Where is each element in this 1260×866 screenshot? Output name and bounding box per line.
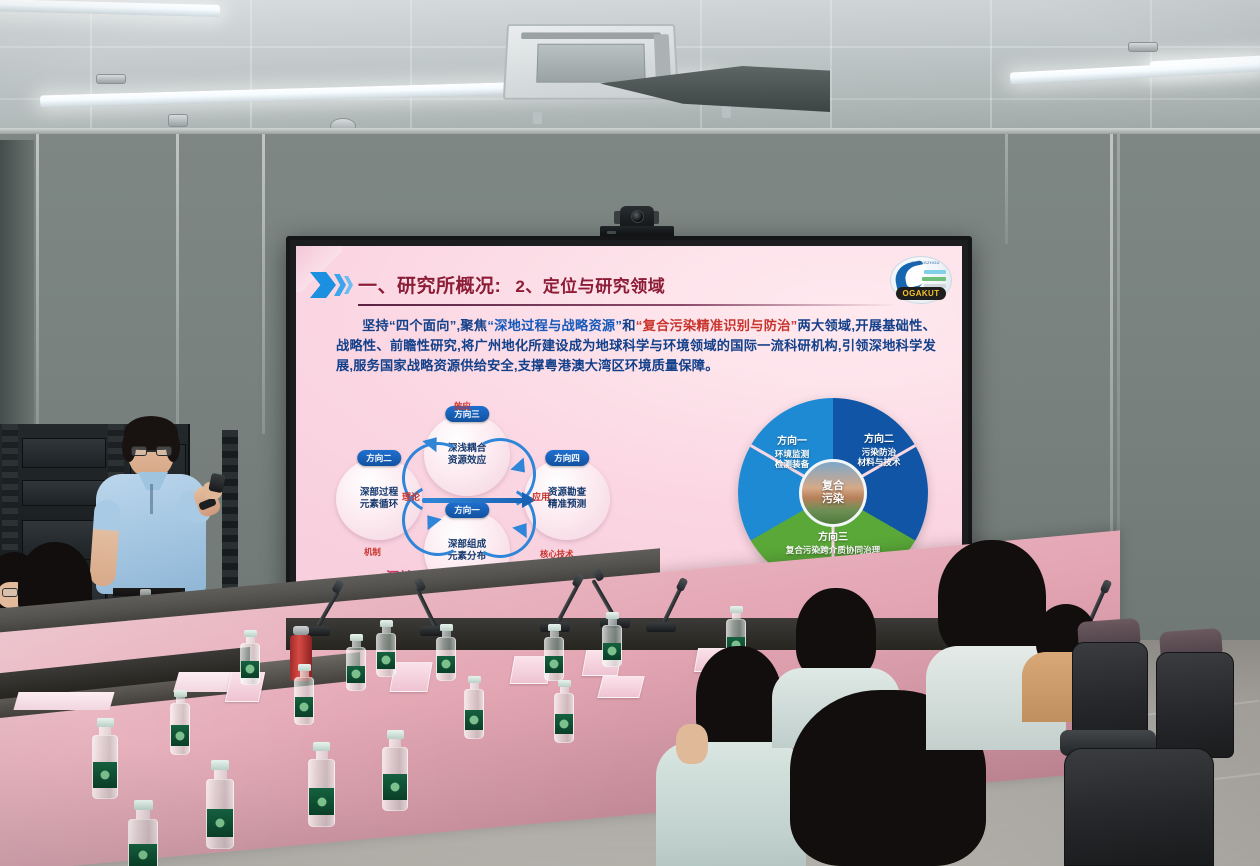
node-line-1: 深部过程 — [360, 487, 398, 499]
node-line-2: 元素循环 — [360, 499, 398, 511]
node-annotation: 机制 — [364, 546, 381, 558]
wall-seam — [1005, 134, 1008, 244]
smoke-detector-icon — [168, 114, 188, 127]
segment-line-1: 污染防治 — [840, 447, 918, 458]
ptz-conference-camera-icon — [600, 206, 674, 238]
segment-pill: 方向二 — [840, 434, 918, 447]
slide-subsection-title: 2、定位与研究领域 — [515, 272, 665, 297]
sprinkler-icon — [722, 106, 731, 118]
institute-logo: GUANGZHOU OGAKUT — [890, 256, 952, 304]
water-bottle — [206, 760, 234, 849]
smoke-detector-icon — [96, 74, 126, 84]
name-card — [13, 692, 114, 710]
ceiling — [0, 0, 1260, 142]
body-part-2: 和 — [622, 318, 636, 333]
node-pill-label: 方向二 — [357, 450, 401, 466]
arrow-label-right: 应用 — [532, 490, 550, 503]
conference-room-photo: 一、研究所概况: 2、定位与研究领域 GUANGZHOU OGAKUT — [0, 0, 1260, 866]
smoke-detector-icon — [1128, 42, 1158, 52]
water-bottle — [554, 680, 574, 743]
wall-trim — [0, 128, 1260, 134]
slide-body-paragraph: 坚持“四个面向”,聚焦“深地过程与战略资源”和“复合污染精准识别与防治”两大领域… — [336, 316, 936, 376]
ceiling-light-strip — [0, 0, 220, 17]
node-pill-label: 方向四 — [545, 450, 589, 466]
center-line-2: 污染 — [822, 493, 844, 506]
node-annotation: 效应 — [454, 400, 471, 412]
body-highlight-2: “复合污染精准识别与防治” — [636, 318, 798, 333]
water-bottle — [128, 800, 158, 866]
glasses-icon — [131, 446, 172, 457]
logo-top-text: GUANGZHOU — [911, 260, 940, 265]
water-bottle — [602, 612, 622, 667]
water-bottle — [170, 690, 190, 755]
water-bottle — [294, 664, 314, 725]
segment-pill: 方向三 — [758, 532, 908, 545]
arrow-label-left: 理论 — [402, 490, 420, 503]
water-bottle — [92, 718, 118, 799]
wall-seam — [36, 134, 39, 434]
water-bottle — [544, 624, 564, 681]
water-bottle — [464, 676, 484, 739]
slide-section-number: 一、研究所概况: — [358, 271, 501, 298]
center-arrow-icon — [422, 498, 526, 503]
slide-content: 一、研究所概况: 2、定位与研究领域 GUANGZHOU OGAKUT — [296, 246, 962, 598]
sprinkler-icon — [533, 112, 542, 124]
water-bottle — [308, 742, 335, 827]
water-bottle — [346, 634, 366, 691]
name-card — [597, 676, 644, 698]
water-bottle — [376, 620, 396, 677]
wall-seam — [1110, 134, 1113, 594]
logo-wordmark: OGAKUT — [896, 287, 946, 300]
title-underline — [358, 304, 898, 306]
donut-segment-label: 方向二 污染防治 材料与技术 — [840, 434, 918, 468]
wall-seam — [1117, 134, 1120, 594]
wall-seam — [262, 134, 265, 434]
ceiling-light-strip — [1010, 59, 1260, 84]
water-bottle — [436, 624, 456, 681]
water-bottle — [240, 630, 260, 685]
body-part-1: 坚持“四个面向”,聚焦 — [362, 318, 487, 333]
slide-title-row: 一、研究所概况: 2、定位与研究领域 — [358, 268, 866, 300]
segment-pill: 方向一 — [756, 436, 828, 449]
segment-line-1: 环境监测 — [756, 449, 828, 460]
center-line-1: 复合 — [822, 480, 844, 493]
water-bottle — [382, 730, 408, 811]
donut-center-label: 复合 污染 — [799, 459, 867, 527]
node-line-2: 精准预测 — [548, 499, 586, 511]
logo-text: OGAKUT — [902, 289, 939, 298]
body-highlight-1: “深地过程与战略资源” — [487, 318, 622, 333]
node-line-1: 资源勘查 — [548, 487, 586, 499]
wall-seam — [176, 134, 179, 434]
chevron-right-icon — [310, 272, 354, 298]
